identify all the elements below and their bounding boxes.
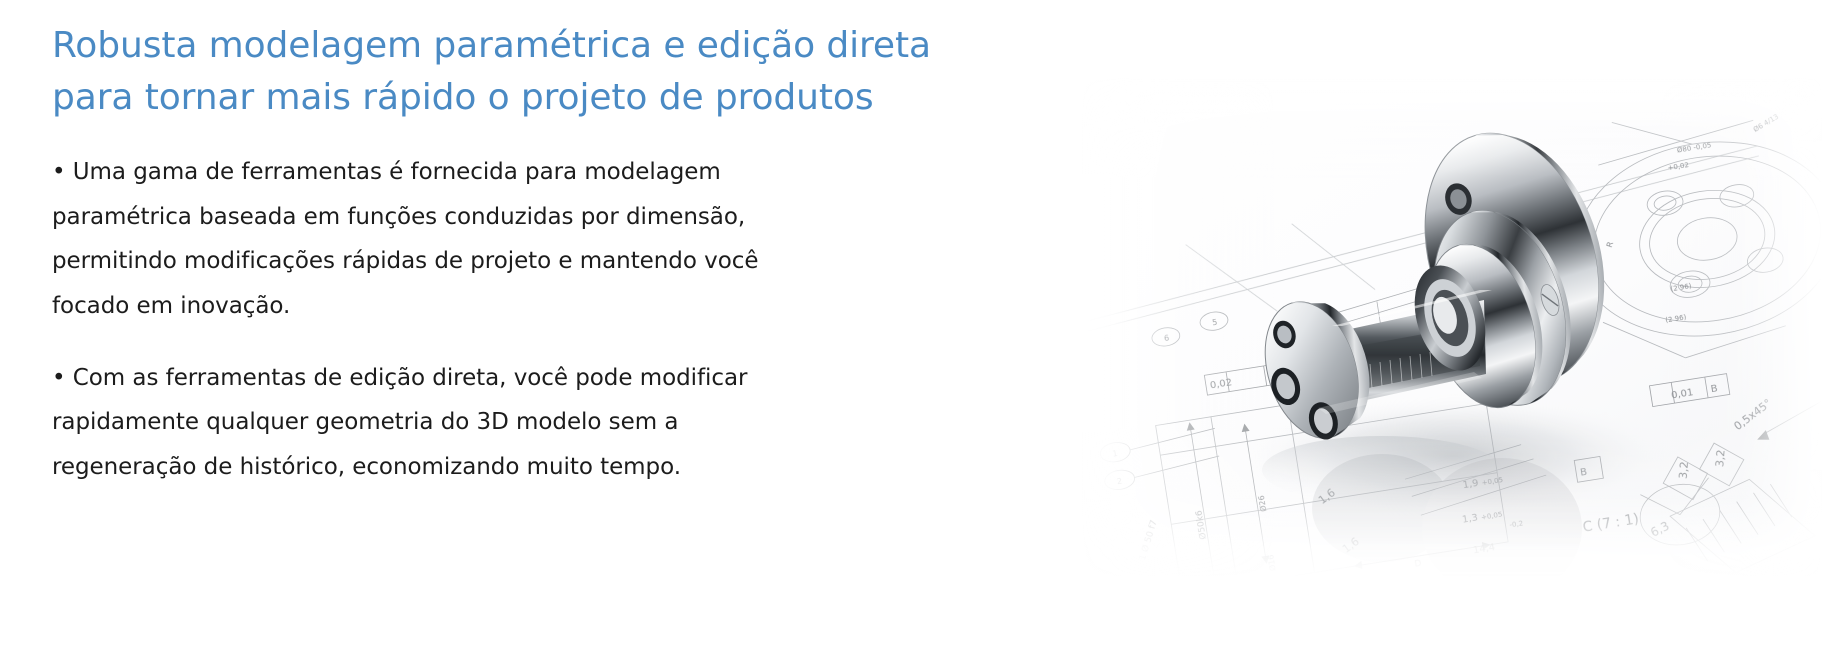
text-column: Robusta modelagem paramétrica e edição d…	[52, 0, 952, 646]
feature-paragraph-direct-editing: • Com as ferramentas de edição direta, v…	[52, 328, 812, 489]
feature-promo-section: Robusta modelagem paramétrica e edição d…	[0, 0, 1848, 646]
feature-paragraph-parametric: • Uma gama de ferramentas é fornecida pa…	[52, 124, 812, 328]
machined-part-render-icon: 6 5 1 2 A-A 109,35 (6,2) 1290 (66) 0,02 …	[1082, 78, 1822, 578]
svg-text:3,2: 3,2	[1713, 449, 1727, 468]
page-title: Robusta modelagem paramétrica e edição d…	[52, 0, 942, 124]
cad-illustration: 6 5 1 2 A-A 109,35 (6,2) 1290 (66) 0,02 …	[1082, 78, 1822, 578]
svg-text:3,2: 3,2	[1677, 461, 1691, 480]
